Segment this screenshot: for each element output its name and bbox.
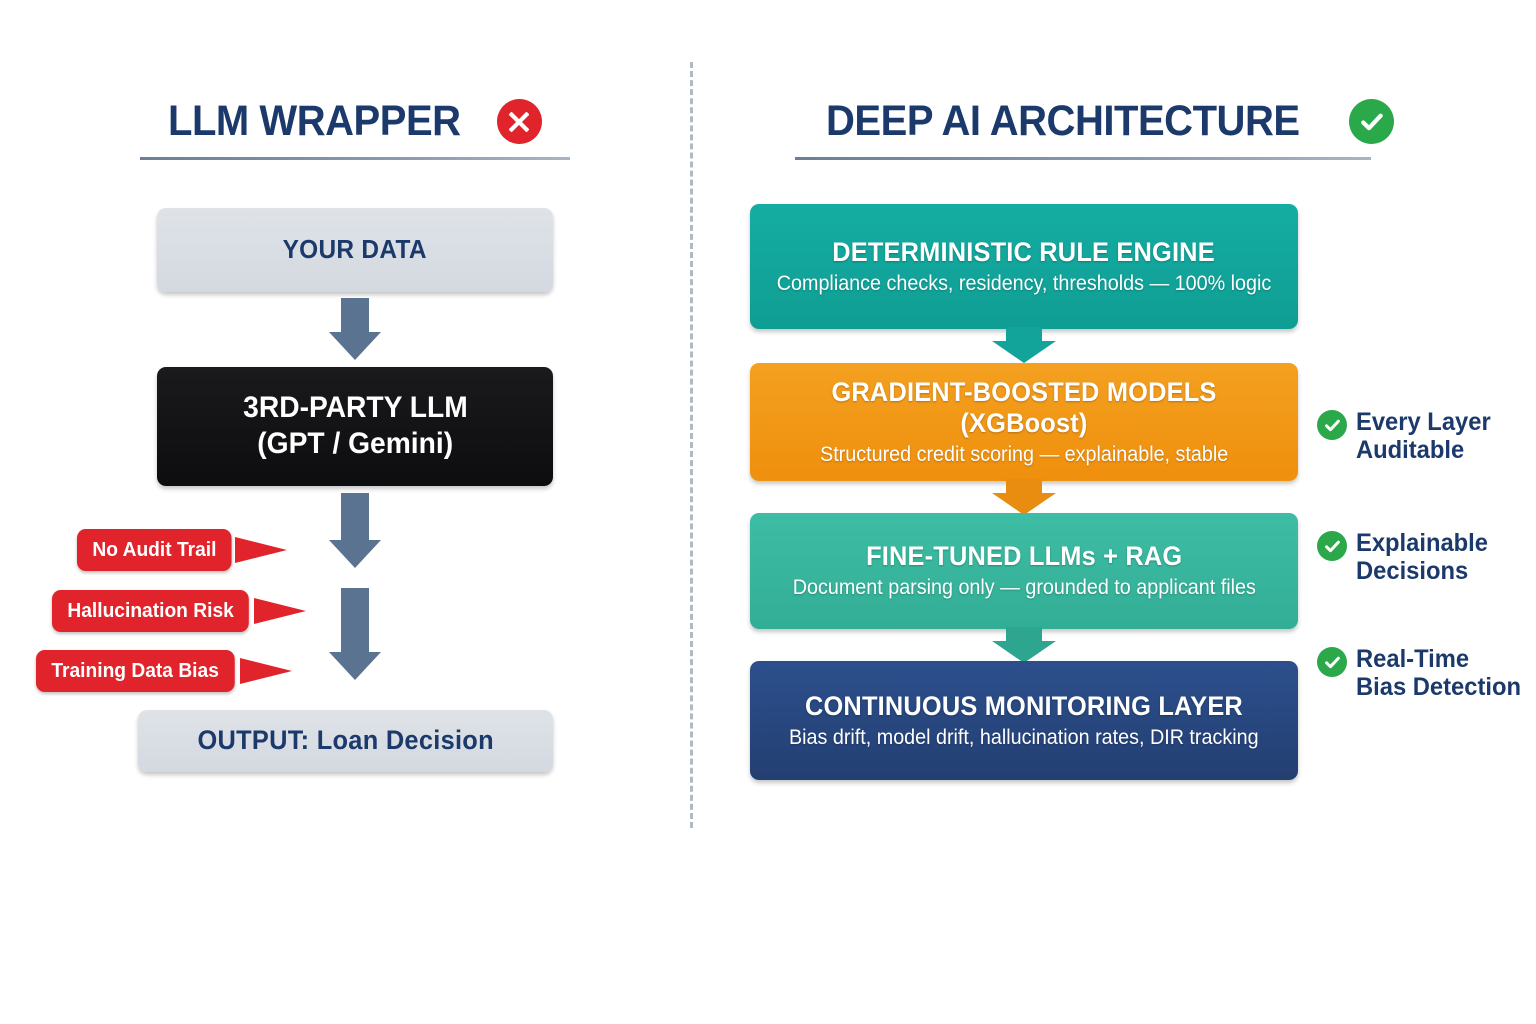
layer-2-title: GRADIENT-BOOSTED MODELS (XGBoost) — [766, 377, 1281, 439]
arrow-llm-to-output-upper — [327, 493, 383, 568]
layer-3-subtitle: Document parsing only — grounded to appl… — [792, 575, 1255, 600]
layer-1-title: DETERMINISTIC RULE ENGINE — [833, 237, 1216, 268]
left-box-llm-title: 3RD-PARTY LLM — [243, 391, 468, 426]
check-circle-icon — [1317, 410, 1347, 440]
benefit-label-3: Real-Time Bias Detection — [1356, 645, 1521, 701]
layer-box-deterministic-rule-engine: DETERMINISTIC RULE ENGINE Compliance che… — [750, 204, 1298, 329]
left-box-output: OUTPUT: Loan Decision — [138, 710, 553, 772]
warning-tag-pointer — [254, 598, 306, 624]
infographic-canvas: LLM WRAPPER YOUR DATA 3RD-PARTY LLM (GPT… — [0, 0, 1536, 1024]
benefit-label-1: Every Layer Auditable — [1356, 408, 1491, 464]
layer-1-subtitle: Compliance checks, residency, thresholds… — [777, 271, 1271, 296]
layer-3-title: FINE-TUNED LLMs + RAG — [866, 541, 1182, 572]
right-title-underline — [795, 157, 1371, 160]
connector-arrow-2 — [992, 479, 1056, 515]
right-title-text: DEEP AI ARCHITECTURE — [826, 97, 1300, 146]
left-column-title: LLM WRAPPER — [168, 97, 542, 146]
left-title-text: LLM WRAPPER — [168, 97, 461, 146]
check-circle-icon — [1349, 99, 1394, 144]
check-circle-icon — [1317, 647, 1347, 677]
warning-tag-no-audit-trail-label: No Audit Trail — [77, 529, 232, 571]
benefit-item-every-layer-auditable: Every Layer Auditable — [1317, 408, 1498, 464]
warning-tag-hallucination-risk: Hallucination Risk — [52, 590, 306, 632]
layer-4-subtitle: Bias drift, model drift, hallucination r… — [789, 725, 1259, 750]
warning-tag-training-data-bias-label: Training Data Bias — [36, 650, 234, 692]
benefit-item-explainable-decisions: Explainable Decisions — [1317, 529, 1495, 585]
left-box-llm-subtitle: (GPT / Gemini) — [257, 426, 453, 462]
layer-2-subtitle: Structured credit scoring — explainable,… — [820, 442, 1228, 467]
left-box-third-party-llm: 3RD-PARTY LLM (GPT / Gemini) — [157, 367, 553, 486]
left-box-your-data-label: YOUR DATA — [283, 235, 427, 265]
warning-tag-hallucination-risk-label: Hallucination Risk — [52, 590, 249, 632]
warning-tag-pointer — [240, 658, 292, 684]
benefit-label-2: Explainable Decisions — [1356, 529, 1488, 585]
connector-arrow-1 — [992, 327, 1056, 363]
right-column-title: DEEP AI ARCHITECTURE — [826, 97, 1394, 146]
layer-box-continuous-monitoring: CONTINUOUS MONITORING LAYER Bias drift, … — [750, 661, 1298, 780]
warning-tag-no-audit-trail: No Audit Trail — [77, 529, 287, 571]
left-box-output-label: OUTPUT: Loan Decision — [197, 725, 493, 756]
column-divider — [690, 62, 693, 828]
connector-arrow-3 — [992, 627, 1056, 663]
benefit-item-real-time-bias-detection: Real-Time Bias Detection — [1317, 645, 1530, 701]
layer-4-title: CONTINUOUS MONITORING LAYER — [805, 691, 1243, 722]
layer-box-gradient-boosted-models: GRADIENT-BOOSTED MODELS (XGBoost) Struct… — [750, 363, 1298, 481]
arrow-llm-to-output-lower — [327, 588, 383, 680]
cross-circle-icon — [497, 99, 542, 144]
layer-box-fine-tuned-llms-rag: FINE-TUNED LLMs + RAG Document parsing o… — [750, 513, 1298, 629]
warning-tag-training-data-bias: Training Data Bias — [36, 650, 292, 692]
left-box-your-data: YOUR DATA — [157, 208, 553, 292]
left-title-underline — [140, 157, 570, 160]
arrow-data-to-llm — [327, 298, 383, 360]
warning-tag-pointer — [235, 537, 287, 563]
check-circle-icon — [1317, 531, 1347, 561]
